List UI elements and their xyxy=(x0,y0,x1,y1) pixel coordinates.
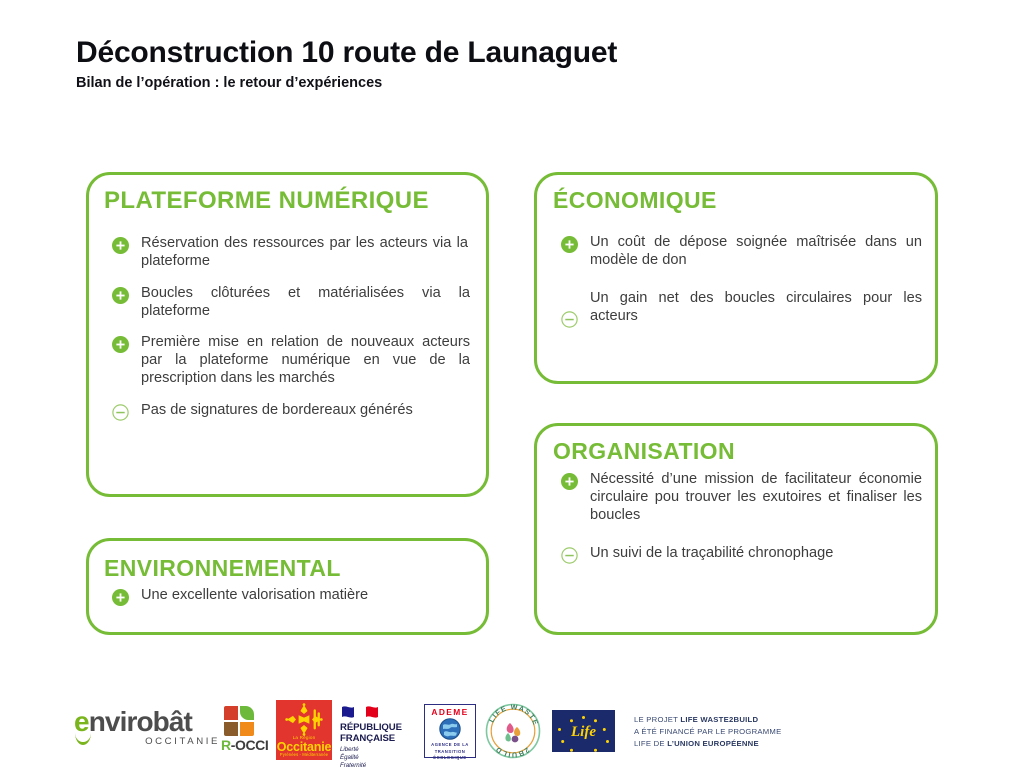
bullet-list: Un coût de dépose soignée maîtrisée dans… xyxy=(553,234,922,325)
slide-header: Déconstruction 10 route de Launaguet Bil… xyxy=(76,36,956,92)
list-item-label: Un suivi de la traçabilité chronophage xyxy=(590,545,922,563)
logo-life-waste2build: LIFE WASTE 2BUILD xyxy=(484,702,542,760)
rocci-label-dark: -OCCI xyxy=(231,737,269,753)
bullet-list: Nécessité d’une mission de facilitateur … xyxy=(553,471,922,562)
card-plateforme-numerique: PLATEFORME NUMÉRIQUE Réservation des res… xyxy=(86,172,489,497)
eu-funding-statement: LE PROJET LIFE WASTE2BUILD A ÉTÉ FINANCÉ… xyxy=(634,714,874,750)
minus-icon xyxy=(561,547,578,564)
rf-motto: Liberté Égalité Fraternité xyxy=(340,746,412,769)
list-item-label: Nécessité d’une mission de facilitateur … xyxy=(590,471,922,524)
ademe-wordmark: ADEME xyxy=(427,708,473,716)
list-item: Un suivi de la traçabilité chronophage xyxy=(553,545,922,563)
plus-icon xyxy=(112,336,129,353)
logo-region-occitanie: La Région Occitanie Pyrénées - Méditerra… xyxy=(276,700,332,760)
envirobat-wordmark: envirobât xyxy=(74,708,220,736)
eu-text-line-2: A ÉTÉ FINANCÉ PAR LE PROGRAMME xyxy=(634,726,874,738)
svg-text:LIFE WASTE: LIFE WASTE xyxy=(487,702,541,727)
rocci-leaf-green xyxy=(240,706,254,720)
minus-icon xyxy=(112,404,129,421)
rocci-label-green: R xyxy=(221,737,231,753)
logo-ademe: ADEME AGENCE DE LA TRANSITION ÉCOLOGIQUE xyxy=(424,704,476,758)
eu-line1-plain: LE PROJET xyxy=(634,715,680,724)
card-economique: ÉCONOMIQUE Un coût de dépose soignée maî… xyxy=(534,172,938,384)
rocci-square-red xyxy=(224,706,238,720)
w2b-arc-bottom: 2BUILD xyxy=(493,745,531,760)
logo-republique-francaise: RÉPUBLIQUE FRANÇAISE Liberté Égalité Fra… xyxy=(340,704,412,770)
eu-line3-plain: LIFE DE xyxy=(634,739,667,748)
card-environnemental: ENVIRONNEMENTAL Une excellente valorisat… xyxy=(86,538,489,635)
plus-icon xyxy=(112,287,129,304)
page-title: Déconstruction 10 route de Launaguet xyxy=(76,36,956,70)
footer-logo-bar: envirobât OCCITANIE R-OCCI xyxy=(74,700,954,762)
envirobat-word-rest: nvirobât xyxy=(89,706,192,737)
rocci-square-orange xyxy=(240,722,254,736)
list-item: Un coût de dépose soignée maîtrisée dans… xyxy=(553,234,922,270)
list-item-label: Un gain net des boucles circulaires pour… xyxy=(590,290,922,326)
card-organisation: ORGANISATION Nécessité d’une mission de … xyxy=(534,423,938,635)
eu-life-wordmark: Life xyxy=(570,724,596,740)
rf-line-2: FRANÇAISE xyxy=(340,734,412,745)
list-item: Réservation des ressources par les acteu… xyxy=(104,235,470,271)
rocci-wordmark: R-OCCI xyxy=(221,738,283,752)
list-item: Boucles clôturées et matérialisées via l… xyxy=(104,285,470,321)
rf-title: RÉPUBLIQUE FRANÇAISE xyxy=(340,723,412,744)
minus-icon xyxy=(561,311,578,328)
rf-motto-3: Fraternité xyxy=(340,762,412,770)
rocci-mark-icon xyxy=(224,706,255,737)
plus-icon xyxy=(561,473,578,490)
eu-text-line-3: LIFE DE L’UNION EUROPÉENNE xyxy=(634,738,874,750)
ademe-sub-1: AGENCE DE LA xyxy=(427,742,473,748)
french-flag-icon xyxy=(340,704,384,720)
ademe-sub-3: ÉCOLOGIQUE xyxy=(427,755,473,761)
logo-r-occi: R-OCCI xyxy=(221,706,283,752)
ademe-subtitle: AGENCE DE LA TRANSITION ÉCOLOGIQUE xyxy=(427,742,473,760)
envirobat-region-label: OCCITANIE xyxy=(74,737,220,747)
eu-flag-icon: Life xyxy=(552,710,615,752)
occitanie-line-3: Pyrénées - Méditerranée xyxy=(276,753,332,758)
list-item-label: Pas de signatures de bordereaux générés xyxy=(141,402,470,420)
page-subtitle: Bilan de l’opération : le retour d’expér… xyxy=(76,76,956,92)
list-item: Première mise en relation de nouveaux ac… xyxy=(104,334,470,387)
globe-icon xyxy=(439,718,461,740)
rf-motto-2: Égalité xyxy=(340,754,412,762)
logo-eu-life-programme: Life LE PROJET LIFE WASTE2BUILD A ÉTÉ FI… xyxy=(552,710,615,752)
list-item-label: Première mise en relation de nouveaux ac… xyxy=(141,334,470,387)
list-item-label: Un coût de dépose soignée maîtrisée dans… xyxy=(590,234,922,270)
card-title: ENVIRONNEMENTAL xyxy=(104,556,470,580)
list-item-label: Une excellente valorisation matière xyxy=(141,587,470,605)
svg-text:2BUILD: 2BUILD xyxy=(493,745,531,760)
plus-icon xyxy=(112,589,129,606)
w2b-arc-top: LIFE WASTE xyxy=(487,702,541,727)
plus-icon xyxy=(112,237,129,254)
slide-canvas: Déconstruction 10 route de Launaguet Bil… xyxy=(0,0,1024,768)
logo-envirobat-occitanie: envirobât OCCITANIE xyxy=(74,708,220,747)
eu-text-line-1: LE PROJET LIFE WASTE2BUILD xyxy=(634,714,874,726)
list-item: Pas de signatures de bordereaux générés xyxy=(104,402,470,420)
list-item: Un gain net des boucles circulaires pour… xyxy=(553,290,922,326)
list-item: Nécessité d’une mission de facilitateur … xyxy=(553,471,922,524)
rocci-square-brown xyxy=(224,722,238,736)
eu-line1-bold: LIFE WASTE2BUILD xyxy=(680,715,758,724)
plus-icon xyxy=(561,236,578,253)
card-title: PLATEFORME NUMÉRIQUE xyxy=(104,188,470,213)
rf-motto-1: Liberté xyxy=(340,746,412,754)
eu-line3-bold: L’UNION EUROPÉENNE xyxy=(667,739,759,748)
list-item: Une excellente valorisation matière xyxy=(104,587,470,605)
list-item-label: Boucles clôturées et matérialisées via l… xyxy=(141,285,470,321)
card-title: ÉCONOMIQUE xyxy=(553,188,922,212)
card-title: ORGANISATION xyxy=(553,439,922,463)
bullet-list: Une excellente valorisation matière xyxy=(104,587,470,605)
list-item-label: Réservation des ressources par les acteu… xyxy=(141,235,468,271)
occitan-cross-icon xyxy=(276,703,332,736)
waste2build-circle-icon: LIFE WASTE 2BUILD xyxy=(484,702,542,760)
bullet-list: Réservation des ressources par les acteu… xyxy=(104,235,470,419)
